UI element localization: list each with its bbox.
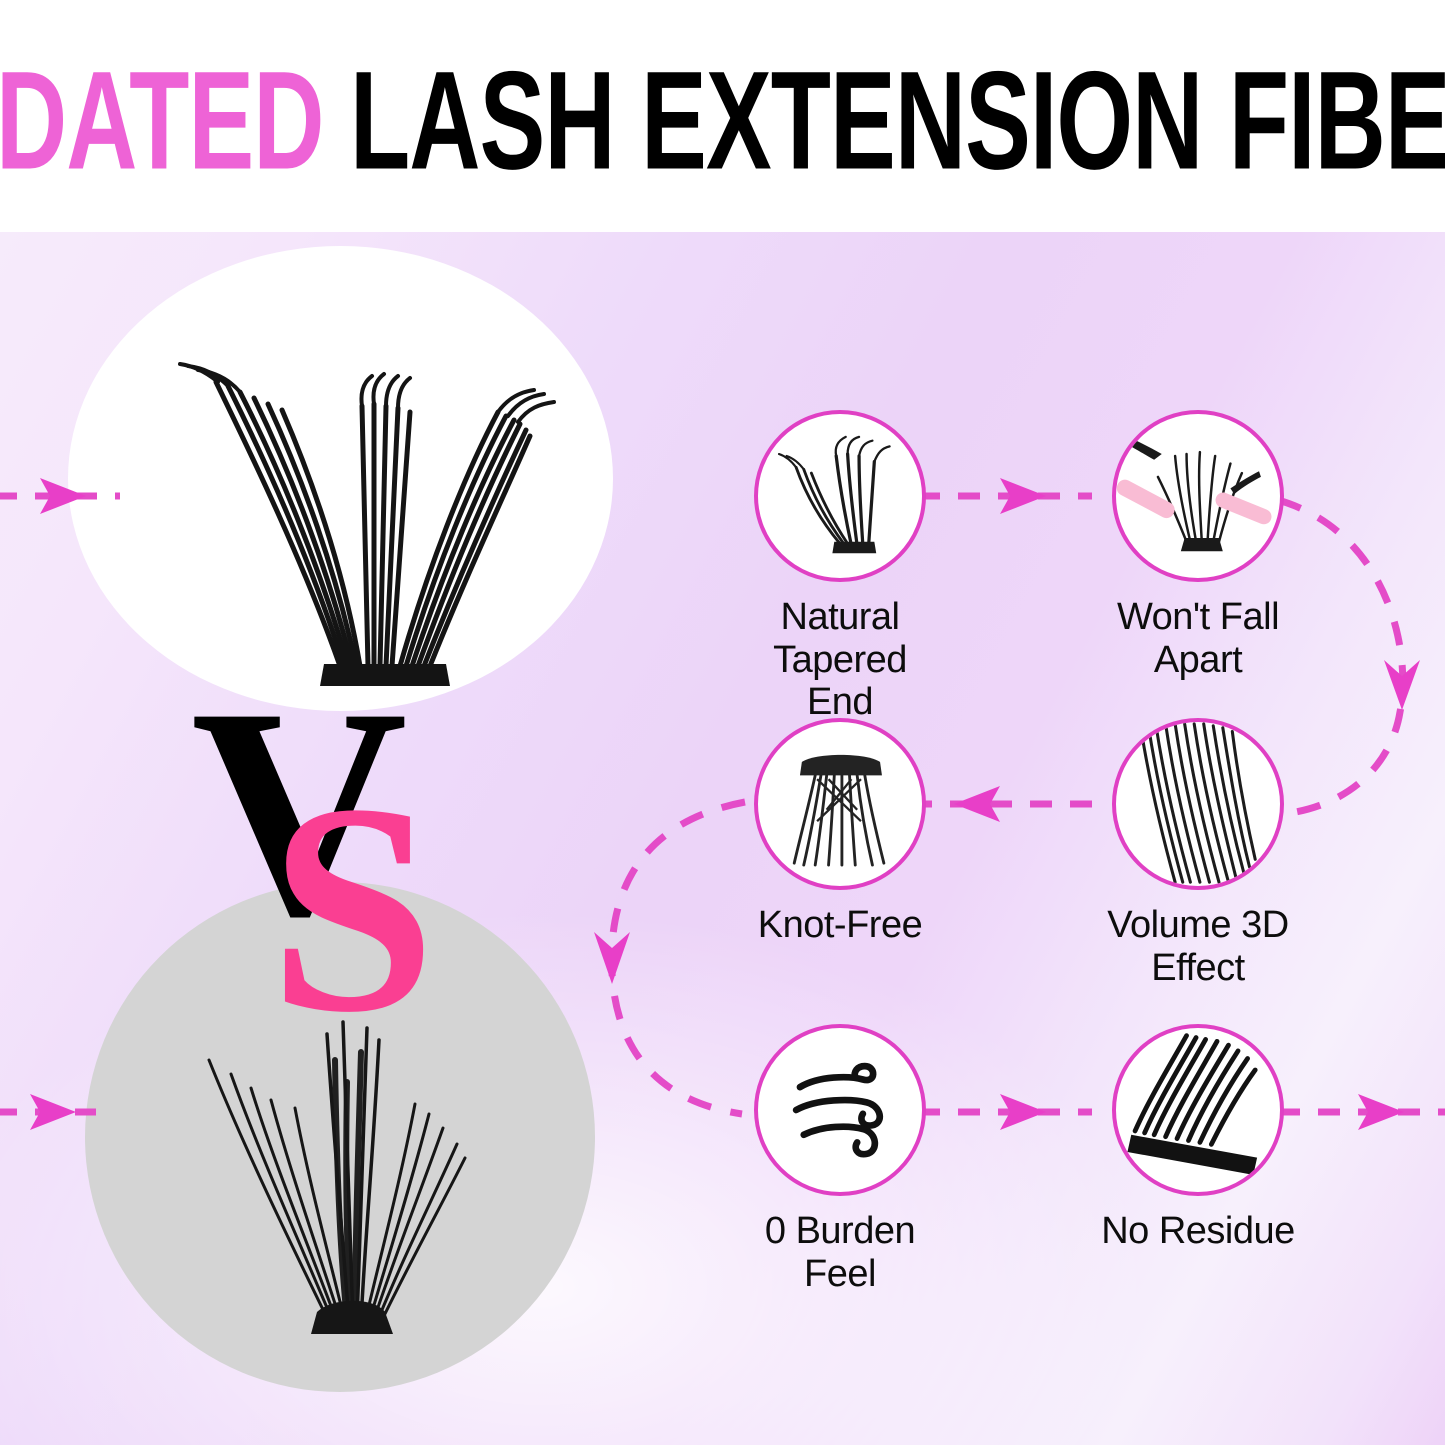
- header-band: UPDATED LASH EXTENSION FIBERS: [0, 0, 1445, 232]
- lash-volume-icon: [1116, 722, 1280, 886]
- lash-taper-icon: [758, 414, 922, 578]
- feature-label: No Residue: [1098, 1210, 1298, 1253]
- feature-circle: [1112, 718, 1284, 890]
- lash-fiber-comparison-infographic: UPDATED LASH EXTENSION FIBERS: [0, 0, 1445, 1445]
- tweezer-left: [1116, 437, 1177, 521]
- arrow-left-curve-row2-to-row3: [594, 802, 745, 1114]
- arrow-row3-c5-to-c6: [918, 1094, 1092, 1130]
- wind-breeze-icon: [758, 1028, 922, 1192]
- feature-label: 0 Burden Feel: [740, 1210, 940, 1295]
- lash-knot-free-icon: [758, 722, 922, 886]
- feature-knot-free[interactable]: Knot-Free: [740, 718, 940, 947]
- main-panel: V S: [0, 232, 1445, 1445]
- feature-label: Volume 3D Effect: [1098, 904, 1298, 989]
- updated-lash-sample-blob: [68, 246, 613, 711]
- feature-label: Natural Tapered End: [740, 596, 940, 724]
- tweezer-right: [1213, 471, 1274, 526]
- page-title: UPDATED LASH EXTENSION FIBERS: [0, 51, 1445, 191]
- arrow-right-curve-row1-to-row2: [1278, 500, 1420, 814]
- updated-lash-fiber-graphic: [68, 246, 613, 711]
- feature-wont-fall-apart[interactable]: Won't Fall Apart: [1098, 410, 1298, 681]
- feature-label: Won't Fall Apart: [1098, 596, 1298, 681]
- feature-circle: [754, 1024, 926, 1196]
- old-lash-sample-blob: [85, 882, 595, 1392]
- arrow-left-entry-row3: [0, 1094, 96, 1130]
- arrow-row2-c4-to-c3: [918, 786, 1092, 822]
- feature-no-residue[interactable]: No Residue: [1098, 1024, 1298, 1253]
- arrow-right-exit-row3: [1278, 1094, 1445, 1130]
- arrow-row1-c1-to-c2: [918, 478, 1092, 514]
- old-lash-fiber-graphic: [85, 882, 595, 1392]
- feature-0-burden-feel[interactable]: 0 Burden Feel: [740, 1024, 940, 1295]
- lash-tweezer-icon: [1116, 414, 1280, 578]
- lash-band-icon: [1116, 1028, 1280, 1192]
- title-highlight: UPDATED: [0, 43, 323, 199]
- title-rest: LASH EXTENSION FIBERS: [323, 43, 1445, 199]
- feature-label: Knot-Free: [740, 904, 940, 947]
- feature-circle: [754, 410, 926, 582]
- feature-natural-tapered-end[interactable]: Natural Tapered End: [740, 410, 940, 724]
- feature-volume-3d-effect[interactable]: Volume 3D Effect: [1098, 718, 1298, 989]
- feature-circle: [754, 718, 926, 890]
- feature-circle: [1112, 1024, 1284, 1196]
- feature-circle: [1112, 410, 1284, 582]
